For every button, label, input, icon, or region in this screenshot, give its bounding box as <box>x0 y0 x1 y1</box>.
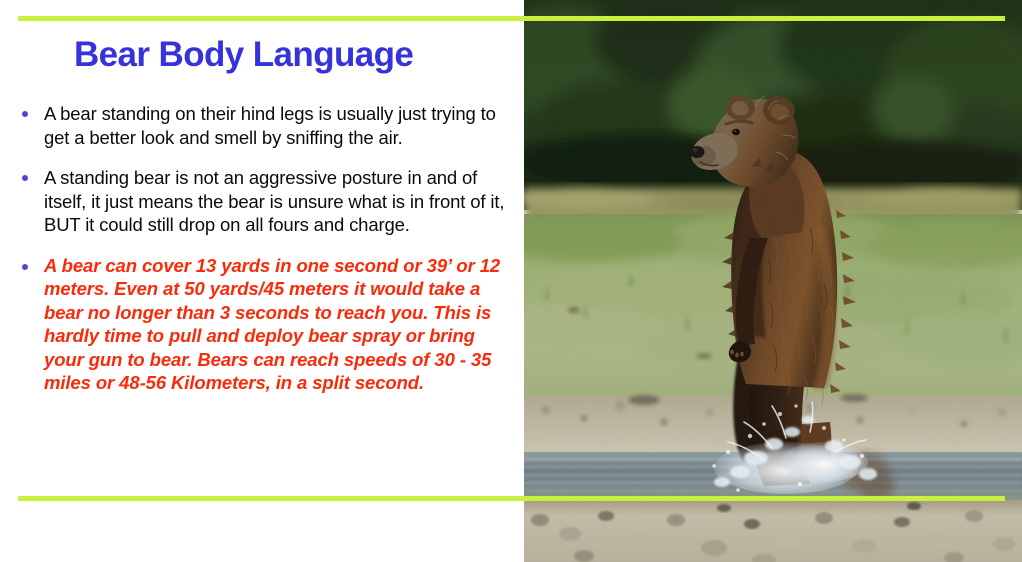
bottom-accent-rule <box>18 496 1005 501</box>
bear-photo-svg <box>524 0 1022 562</box>
list-item-text: A bear standing on their hind legs is us… <box>44 103 496 148</box>
slide: Bear Body Language A bear standing on th… <box>0 0 1022 562</box>
top-accent-rule <box>18 16 1005 21</box>
list-item-text: A bear can cover 13 yards in one second … <box>44 255 500 394</box>
list-item: A bear standing on their hind legs is us… <box>16 102 516 149</box>
bullet-dot-icon <box>22 175 28 181</box>
text-column: Bear Body Language A bear standing on th… <box>0 0 524 562</box>
list-item: A bear can cover 13 yards in one second … <box>16 254 516 396</box>
bullet-dot-icon <box>22 264 28 270</box>
list-item: A standing bear is not an aggressive pos… <box>16 166 516 237</box>
bullet-list: A bear standing on their hind legs is us… <box>16 102 516 412</box>
bear-photograph <box>524 0 1022 562</box>
page-title: Bear Body Language <box>74 33 413 77</box>
bullet-dot-icon <box>22 111 28 117</box>
list-item-text: A standing bear is not an aggressive pos… <box>44 167 504 235</box>
